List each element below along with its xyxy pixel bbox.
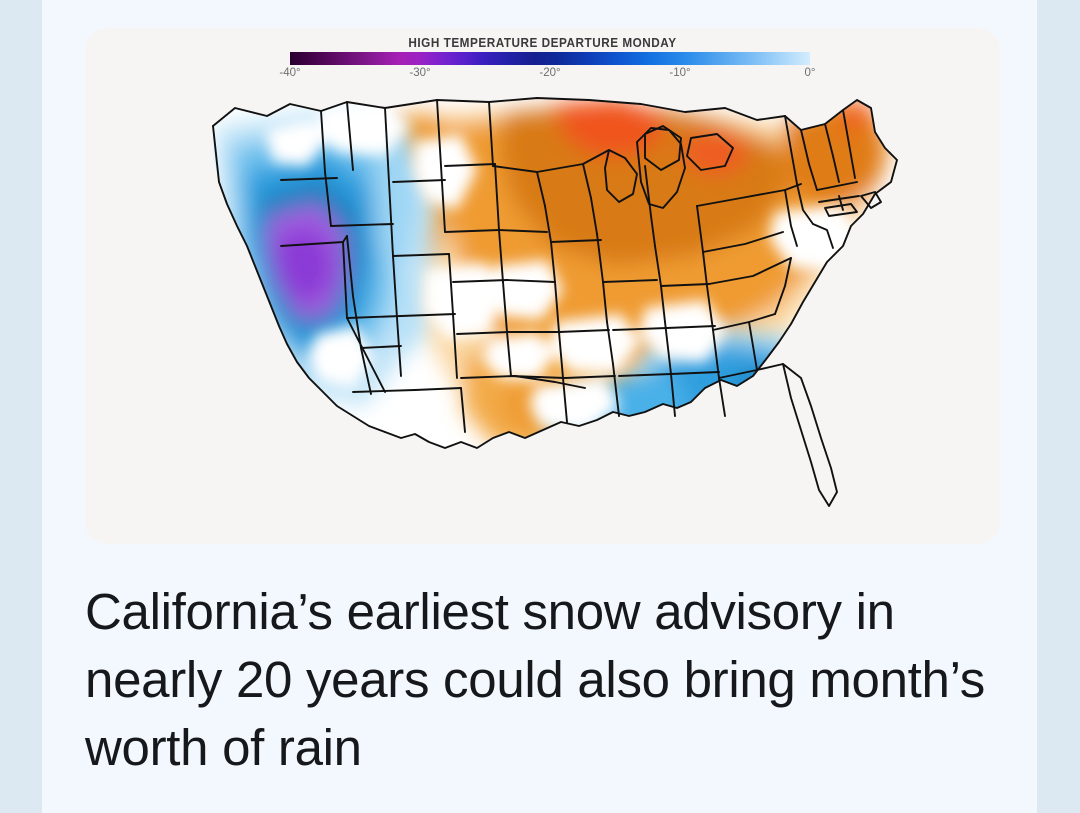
map-title: HIGH TEMPERATURE DEPARTURE MONDAY (112, 36, 972, 50)
map-svg (85, 86, 1000, 544)
neutral-wedge-florida (783, 372, 855, 452)
us-temperature-anomaly-map (85, 86, 1000, 544)
colorbar-gradient (290, 52, 810, 65)
colorbar-tick-2: -20° (539, 67, 560, 79)
article-headline[interactable]: California’s earliest snow advisory in n… (85, 578, 985, 781)
colorbar-tick-1: -30° (409, 67, 430, 79)
anomaly-pale-orange-florida (825, 416, 857, 490)
colorbar-tick-4: 0° (805, 67, 816, 79)
colorbar-tick-3: -10° (669, 67, 690, 79)
colorbar-ticks: -40° -30° -20° -10° 0° (290, 67, 810, 83)
weather-map-card[interactable]: HIGH TEMPERATURE DEPARTURE MONDAY -40° -… (85, 28, 1000, 544)
right-rail (1037, 0, 1080, 813)
colorbar-legend: HIGH TEMPERATURE DEPARTURE MONDAY (85, 28, 1000, 50)
left-rail (0, 0, 42, 813)
colorbar-tick-0: -40° (279, 67, 300, 79)
anomaly-field (85, 86, 1000, 544)
